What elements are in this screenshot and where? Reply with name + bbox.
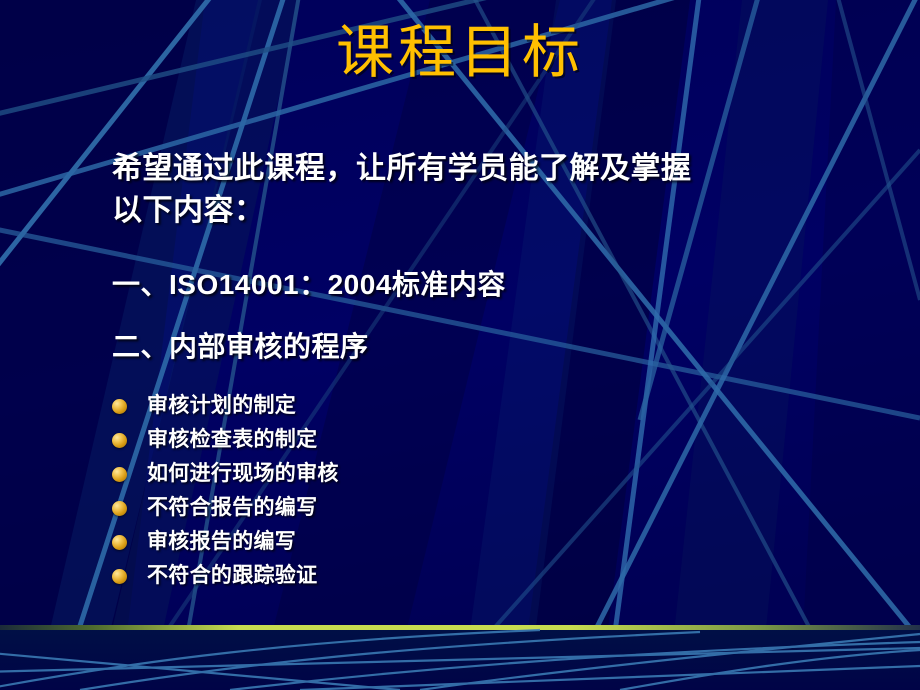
- presentation-slide: 课程目标 希望通过此课程，让所有学员能了解及掌握 以下内容： 一、ISO1400…: [0, 0, 920, 690]
- numbered-item-2: 二、内部审核的程序: [112, 330, 852, 364]
- list-item: 如何进行现场的审核: [112, 458, 852, 490]
- list-item: 审核报告的编写: [112, 526, 852, 558]
- list-item-label: 审核检查表的制定: [147, 428, 317, 452]
- intro-line-1: 希望通过此课程，让所有学员能了解及掌握: [112, 148, 852, 190]
- list-item-label: 不符合报告的编写: [147, 496, 317, 520]
- gold-sphere-bullet-icon: [112, 535, 127, 550]
- list-item-label: 审核报告的编写: [147, 530, 296, 554]
- gold-sphere-bullet-icon: [112, 399, 127, 414]
- gold-sphere-bullet-icon: [112, 501, 127, 516]
- list-item-label: 不符合的跟踪验证: [147, 564, 317, 588]
- gold-sphere-bullet-icon: [112, 569, 127, 584]
- gold-sphere-bullet-icon: [112, 467, 127, 482]
- list-item: 审核检查表的制定: [112, 424, 852, 456]
- gold-sphere-bullet-icon: [112, 433, 127, 448]
- slide-body: 希望通过此课程，让所有学员能了解及掌握 以下内容： 一、ISO14001：200…: [112, 148, 852, 594]
- slide-title: 课程目标: [0, 22, 920, 83]
- list-item-label: 如何进行现场的审核: [147, 462, 339, 486]
- numbered-item-1: 一、ISO14001：2004标准内容: [112, 268, 852, 302]
- intro-paragraph: 希望通过此课程，让所有学员能了解及掌握 以下内容：: [112, 148, 852, 232]
- slide-title-text: 课程目标: [336, 22, 584, 83]
- list-item: 不符合报告的编写: [112, 492, 852, 524]
- intro-line-2: 以下内容：: [112, 190, 852, 232]
- bullet-list: 审核计划的制定 审核检查表的制定 如何进行现场的审核 不符合报告的编写 审核报告…: [112, 390, 852, 592]
- list-item: 不符合的跟踪验证: [112, 560, 852, 592]
- list-item: 审核计划的制定: [112, 390, 852, 422]
- list-item-label: 审核计划的制定: [147, 394, 296, 418]
